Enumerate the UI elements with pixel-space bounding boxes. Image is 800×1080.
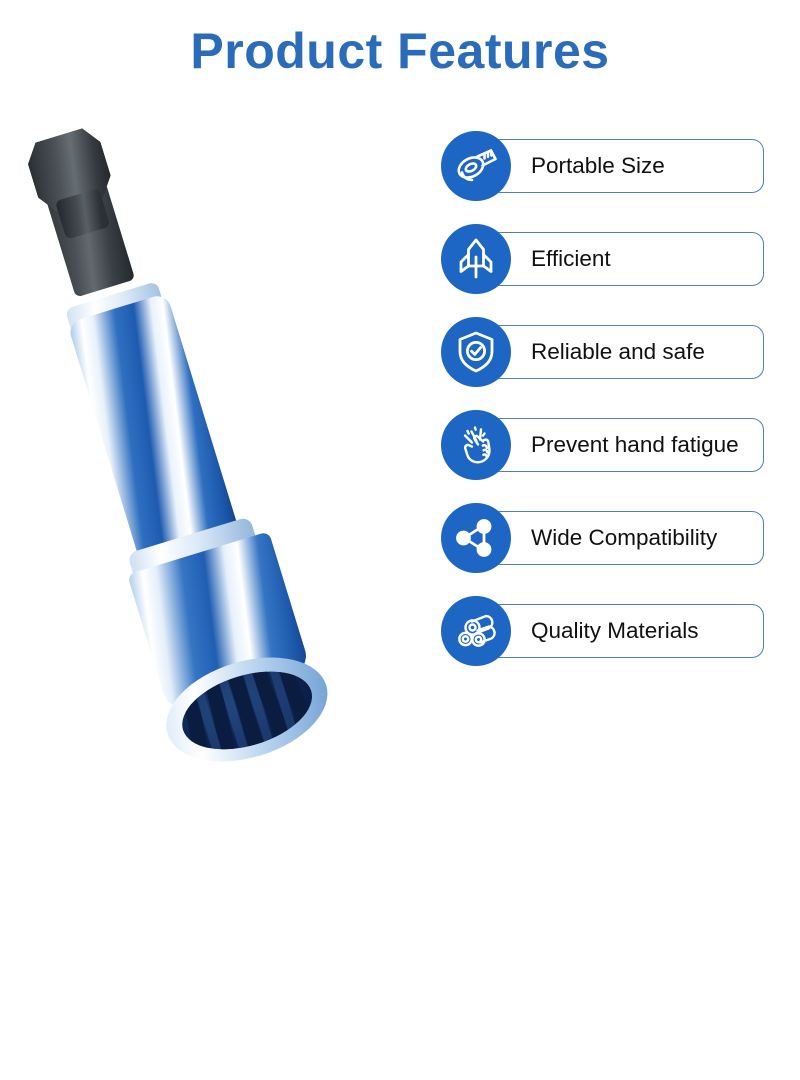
feature-label: Prevent hand fatigue (531, 410, 739, 480)
share-network-icon (441, 503, 511, 573)
feature-item-efficient[interactable]: Efficient (441, 224, 771, 294)
stacked-pipes-icon (441, 596, 511, 666)
feature-item-reliable-and-safe[interactable]: Reliable and safe (441, 317, 771, 387)
feature-item-wide-compatibility[interactable]: Wide Compatibility (441, 503, 771, 573)
tape-measure-icon (441, 131, 511, 201)
rocket-icon (441, 224, 511, 294)
feature-label: Wide Compatibility (531, 503, 717, 573)
snapping-hand-icon (441, 410, 511, 480)
page-title: Product Features (0, 22, 800, 80)
feature-label: Quality Materials (531, 596, 699, 666)
feature-label: Reliable and safe (531, 317, 705, 387)
feature-item-prevent-hand-fatigue[interactable]: Prevent hand fatigue (441, 410, 771, 480)
shield-check-icon (441, 317, 511, 387)
feature-label: Efficient (531, 224, 611, 294)
feature-list: Portable Size Efficient Reliable and saf… (441, 131, 771, 689)
feature-item-quality-materials[interactable]: Quality Materials (441, 596, 771, 666)
feature-item-portable-size[interactable]: Portable Size (441, 131, 771, 201)
feature-pill (488, 232, 764, 286)
feature-label: Portable Size (531, 131, 665, 201)
